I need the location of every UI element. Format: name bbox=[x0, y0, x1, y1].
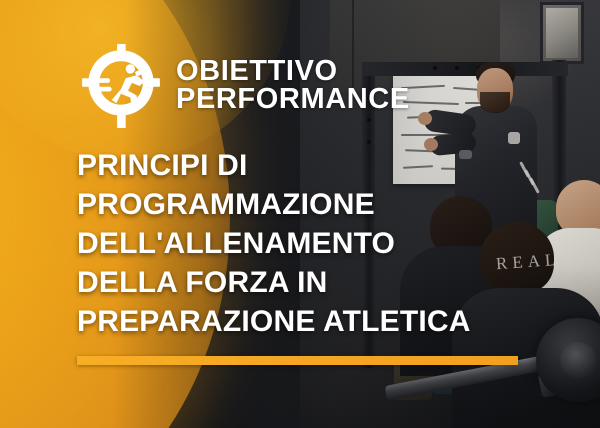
target-runner-icon bbox=[82, 44, 160, 128]
brand-name-line-2: PERFORMANCE bbox=[176, 86, 410, 114]
headline-line-5: PREPARAZIONE ATLETICA bbox=[77, 302, 547, 341]
headline-line-3: DELL'ALLENAMENTO bbox=[77, 224, 547, 263]
headline-line-2: PROGRAMMAZIONE bbox=[77, 185, 547, 224]
brand-logo-lockup[interactable]: OBIETTIVO PERFORMANCE bbox=[82, 44, 410, 128]
accent-underline-bar bbox=[77, 356, 518, 365]
brand-wordmark: OBIETTIVO PERFORMANCE bbox=[176, 58, 410, 114]
brand-name-line-1: OBIETTIVO bbox=[176, 58, 410, 86]
course-promo-banner: REAL bbox=[0, 0, 600, 428]
headline-line-4: DELLA FORZA IN bbox=[77, 263, 547, 302]
headline-block: PRINCIPI DI PROGRAMMAZIONE DELL'ALLENAME… bbox=[77, 146, 547, 341]
headline-line-1: PRINCIPI DI bbox=[77, 146, 547, 185]
